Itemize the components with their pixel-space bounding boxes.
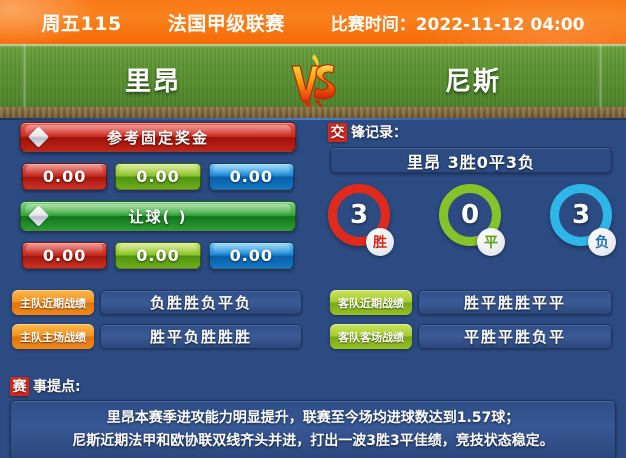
h2h-circles: 3 胜 0 平 3 负 (316, 184, 626, 254)
fixed-prize-odd-away[interactable]: 0.00 (209, 163, 294, 190)
tips-label: 赛 事提点: (10, 376, 626, 396)
home-recent-form-value: 负胜胜负平负 (100, 290, 302, 315)
diamond-icon (28, 205, 49, 226)
fixed-prize-odd-draw[interactable]: 0.00 (115, 163, 200, 190)
header-row: 周五115 法国甲级联赛 比赛时间：2022-11-12 04:00 (42, 9, 585, 36)
header-match-time: 比赛时间：2022-11-12 04:00 (331, 10, 585, 35)
home-home-form-value: 胜平负胜胜胜 (100, 324, 302, 349)
away-recent-form-row: 客队近期战绩 胜平胜胜平平 (316, 290, 626, 315)
tips-label-text: 事提点: (33, 376, 81, 396)
away-recent-form-tag: 客队近期战绩 (330, 290, 412, 315)
h2h-label: 交 锋记录： (328, 122, 626, 142)
fixed-prize-title-bar: 参考固定奖金 (20, 122, 296, 152)
home-recent-form-tag: 主队近期战绩 (12, 290, 94, 315)
tips-line-2: 尼斯近期法甲和欧协联双线齐头并进，打出一波3胜3平佳绩，竞技状态稳定。 (21, 430, 605, 453)
h2h-circle-draw: 0 平 (439, 184, 503, 254)
h2h-draw-badge: 平 (477, 228, 505, 256)
fixed-prize-title: 参考固定奖金 (107, 127, 209, 148)
away-away-form-row: 客队客场战绩 平胜平胜负平 (316, 324, 626, 349)
fixed-prize-odds-row: 0.00 0.00 0.00 (0, 163, 316, 190)
tips-line-1: 里昂本赛季进攻能力明显提升，联赛至今场均进球数达到1.57球； (21, 407, 605, 430)
home-home-form-row: 主队主场战绩 胜平负胜胜胜 (0, 324, 316, 349)
h2h-circle-win: 3 胜 (328, 184, 392, 254)
page-header: 周五115 法国甲级联赛 比赛时间：2022-11-12 04:00 (0, 0, 626, 44)
handicap-title-bar: 让球( ) (20, 201, 296, 231)
match-tips: 赛 事提点: 里昂本赛季进攻能力明显提升，联赛至今场均进球数达到1.57球； 尼… (0, 376, 626, 458)
h2h-circle-loss: 3 负 (550, 184, 614, 254)
handicap-odd-home[interactable]: 0.00 (22, 242, 107, 269)
away-team-name: 尼斯 (358, 58, 588, 100)
h2h-label-badge: 交 (328, 123, 347, 142)
pitch-top-edge (0, 44, 626, 47)
away-away-form-tag: 客队客场战绩 (330, 324, 412, 349)
match-preview-page: 周五115 法国甲级联赛 比赛时间：2022-11-12 04:00 里昂 尼斯 (0, 0, 626, 458)
away-away-form-value: 平胜平胜负平 (418, 324, 612, 349)
home-recent-form-row: 主队近期战绩 负胜胜负平负 (0, 290, 316, 315)
h2h-summary: 里昂 3胜0平3负 (330, 147, 612, 174)
content-top-divider (0, 118, 626, 120)
home-team-name: 里昂 (38, 58, 268, 100)
h2h-label-text: 锋记录： (351, 122, 407, 142)
fixed-prize-odd-home[interactable]: 0.00 (22, 163, 107, 190)
handicap-title: 让球( ) (129, 206, 188, 227)
header-round: 周五115 (42, 9, 122, 36)
h2h-loss-badge: 负 (588, 228, 616, 256)
home-home-form-tag: 主队主场战绩 (12, 324, 94, 349)
home-form-list: 主队近期战绩 负胜胜负平负 主队主场战绩 胜平负胜胜胜 (0, 290, 316, 358)
tips-label-badge: 赛 (10, 377, 29, 396)
h2h-win-badge: 胜 (366, 228, 394, 256)
away-form-list: 客队近期战绩 胜平胜胜平平 客队客场战绩 平胜平胜负平 (316, 290, 626, 358)
vs-flame-icon (278, 52, 348, 114)
pitch-line-right (598, 44, 603, 107)
tips-content: 里昂本赛季进攻能力明显提升，联赛至今场均进球数达到1.57球； 尼斯近期法甲和欧… (10, 400, 616, 458)
handicap-odds-row: 0.00 0.00 0.00 (0, 242, 316, 269)
diamond-icon (28, 126, 49, 147)
pitch-line-left (22, 44, 27, 107)
teams-banner: 里昂 尼斯 (0, 44, 626, 118)
away-recent-form-value: 胜平胜胜平平 (418, 290, 612, 315)
handicap-odd-draw[interactable]: 0.00 (115, 242, 200, 269)
header-league: 法国甲级联赛 (168, 9, 285, 36)
handicap-odd-away[interactable]: 0.00 (209, 242, 294, 269)
